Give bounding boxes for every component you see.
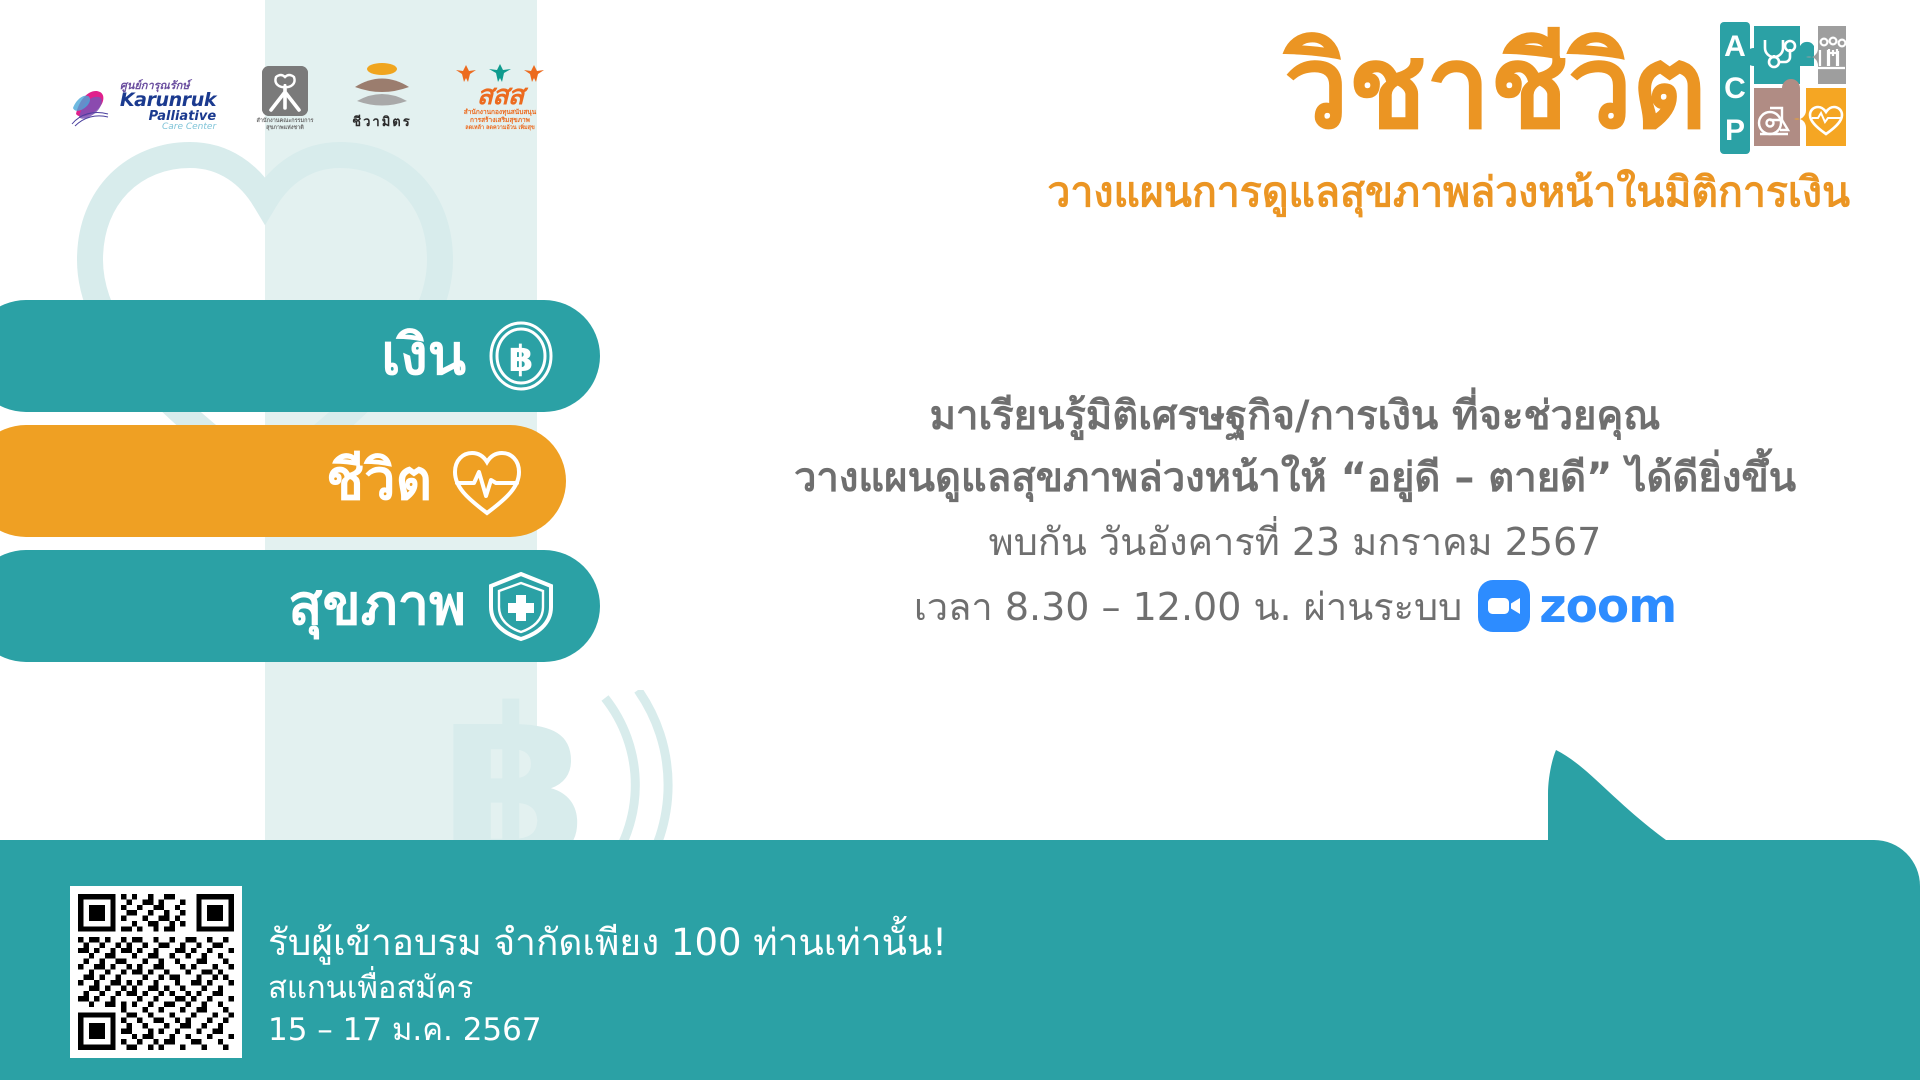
zoom-logo: zoom [1478, 580, 1676, 632]
detail-date: พบกัน วันอังคารที่ 23 มกราคม 2567 [730, 509, 1860, 576]
qr-code-image [78, 894, 234, 1050]
topic-pill-list: เงิน ฿ ชีวิต สุขภาพ [0, 300, 600, 675]
logo-karunruk-care-center: Care Center [162, 123, 216, 132]
baht-coin-icon: ฿ [484, 319, 558, 393]
zoom-camera-icon [1478, 580, 1530, 632]
svg-text:฿: ฿ [508, 339, 533, 380]
pill-health-label: สุขภาพ [288, 578, 466, 634]
registration-banner: รับผู้เข้าอบรม จำกัดเพียง 100 ท่านเท่านั… [0, 840, 1920, 1080]
poster-root: ฿ ศูนย์การุณรักษ์ Karunruk Palliative Ca… [0, 0, 1920, 1080]
pill-health: สุขภาพ [0, 550, 600, 662]
logo-cheewamitr: ชีวามิตร [342, 61, 422, 132]
logo-cheewamitr-caption: ชีวามิตร [352, 111, 411, 132]
detail-lead: มาเรียนรู้มิติเศรษฐกิจ/การเงิน ที่จะช่วย… [730, 385, 1860, 447]
heart-pulse-icon [450, 444, 524, 518]
acp-puzzle-logo-icon: A C P [1720, 22, 1850, 154]
logo-thaihealth-big: สสส [477, 84, 523, 108]
page-subtitle: วางแผนการดูแลสุขภาพล่วงหน้าในมิติการเงิน [1047, 160, 1850, 225]
logo-karunruk-name: Karunruk [120, 91, 216, 110]
pill-life: ชีวิต [0, 425, 566, 537]
shield-cross-icon [484, 569, 558, 643]
banner-line-scan: สแกนเพื่อสมัคร [268, 968, 947, 1010]
thaihealth-stars-icon [454, 64, 546, 84]
qr-code[interactable] [70, 886, 242, 1058]
logo-thaihealth: สสส สำนักงานกองทุนสนับสนุน การสร้างเสริม… [446, 64, 554, 132]
logo-karunruk: ศูนย์การุณรักษ์ Karunruk Palliative Care… [58, 80, 228, 132]
zoom-wordmark: zoom [1539, 583, 1676, 630]
pill-money-label: เงิน [381, 328, 466, 384]
nhco-mark-icon [262, 66, 308, 116]
event-details: มาเรียนรู้มิติเศรษฐกิจ/การเงิน ที่จะช่วย… [730, 385, 1860, 637]
svg-text:A: A [1724, 30, 1746, 63]
butterfly-icon [70, 84, 116, 128]
headline-block: วิชาชีวิต A C P [1047, 22, 1850, 225]
page-title: วิชาชีวิต [1284, 30, 1706, 146]
svg-text:P: P [1725, 114, 1745, 147]
banner-line-dates: 15 – 17 ม.ค. 2567 [268, 1010, 947, 1052]
svg-text:C: C [1724, 72, 1746, 105]
banner-tail-shape [1548, 750, 1668, 842]
detail-time-row: เวลา 8.30 – 12.00 น. ผ่านระบบ zoom [730, 576, 1860, 637]
cheewamitr-mark-icon [351, 61, 413, 109]
detail-time: เวลา 8.30 – 12.00 น. ผ่านระบบ [914, 576, 1462, 637]
logo-nhco: สำนักงานคณะกรรมการ สุขภาพแห่งชาติ [252, 66, 318, 132]
banner-line-capacity: รับผู้เข้าอบรม จำกัดเพียง 100 ท่านเท่านั… [268, 918, 947, 968]
logo-thaihealth-caption2: การสร้างเสริมสุขภาพ [464, 116, 536, 124]
logo-nhco-caption2: สุขภาพแห่งชาติ [256, 125, 313, 132]
banner-text: รับผู้เข้าอบรม จำกัดเพียง 100 ท่านเท่านั… [268, 918, 947, 1052]
pill-money: เงิน ฿ [0, 300, 600, 412]
logo-thaihealth-caption3: ลดเหล้า ลดความอ้วน เพิ่มสุข [465, 125, 535, 132]
partner-logos: ศูนย์การุณรักษ์ Karunruk Palliative Care… [58, 42, 554, 132]
pill-life-label: ชีวิต [326, 453, 432, 509]
detail-line2: วางแผนดูแลสุขภาพล่วงหน้าให้ “อยู่ดี – ตา… [730, 447, 1860, 509]
